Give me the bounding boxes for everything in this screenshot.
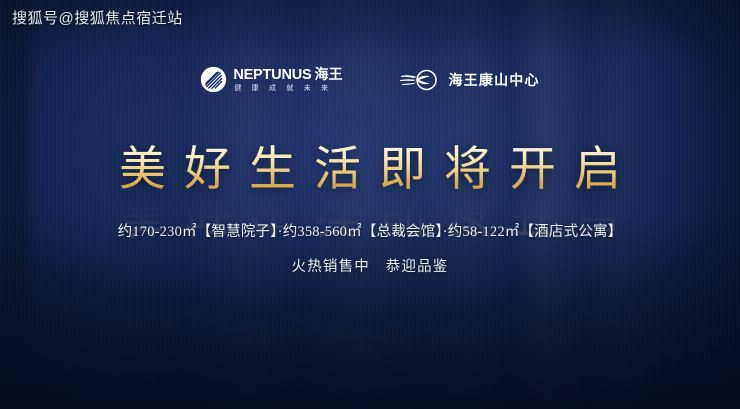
- kangshan-logo: 海王康山中心: [399, 68, 539, 92]
- logo-row: NEPTUNUS 海王 健 康 成 就 未 来 海王康山中心: [0, 66, 740, 93]
- neptunus-text-block: NEPTUNUS 海王 健 康 成 就 未 来: [233, 67, 342, 92]
- subtitle-block: 约170-230㎡【智慧院子】·约358-560㎡【总裁会馆】·约58-122㎡…: [0, 222, 740, 279]
- neptunus-name-line: NEPTUNUS 海王: [233, 67, 342, 83]
- watermark-label: 搜狐号@搜狐焦点宿迁站: [12, 11, 183, 26]
- sales-status-line: 火热销售中 恭迎品鉴: [0, 257, 740, 279]
- kangshan-center-name: 海王康山中心: [448, 70, 539, 90]
- promo-poster: 搜狐号@搜狐焦点宿迁站 NEPTUNUS: [0, 0, 740, 409]
- neptunus-latin-name: NEPTUNUS: [233, 68, 311, 83]
- product-types-line: 约170-230㎡【智慧院子】·约358-560㎡【总裁会馆】·约58-122㎡…: [0, 222, 740, 244]
- neptunus-slogan: 健 康 成 就 未 来: [233, 85, 342, 92]
- neptunus-circle-icon: [200, 66, 227, 93]
- neptunus-chinese-name: 海王: [314, 67, 342, 81]
- kangshan-swoosh-icon: [399, 68, 439, 92]
- neptunus-logo: NEPTUNUS 海王 健 康 成 就 未 来: [200, 66, 342, 93]
